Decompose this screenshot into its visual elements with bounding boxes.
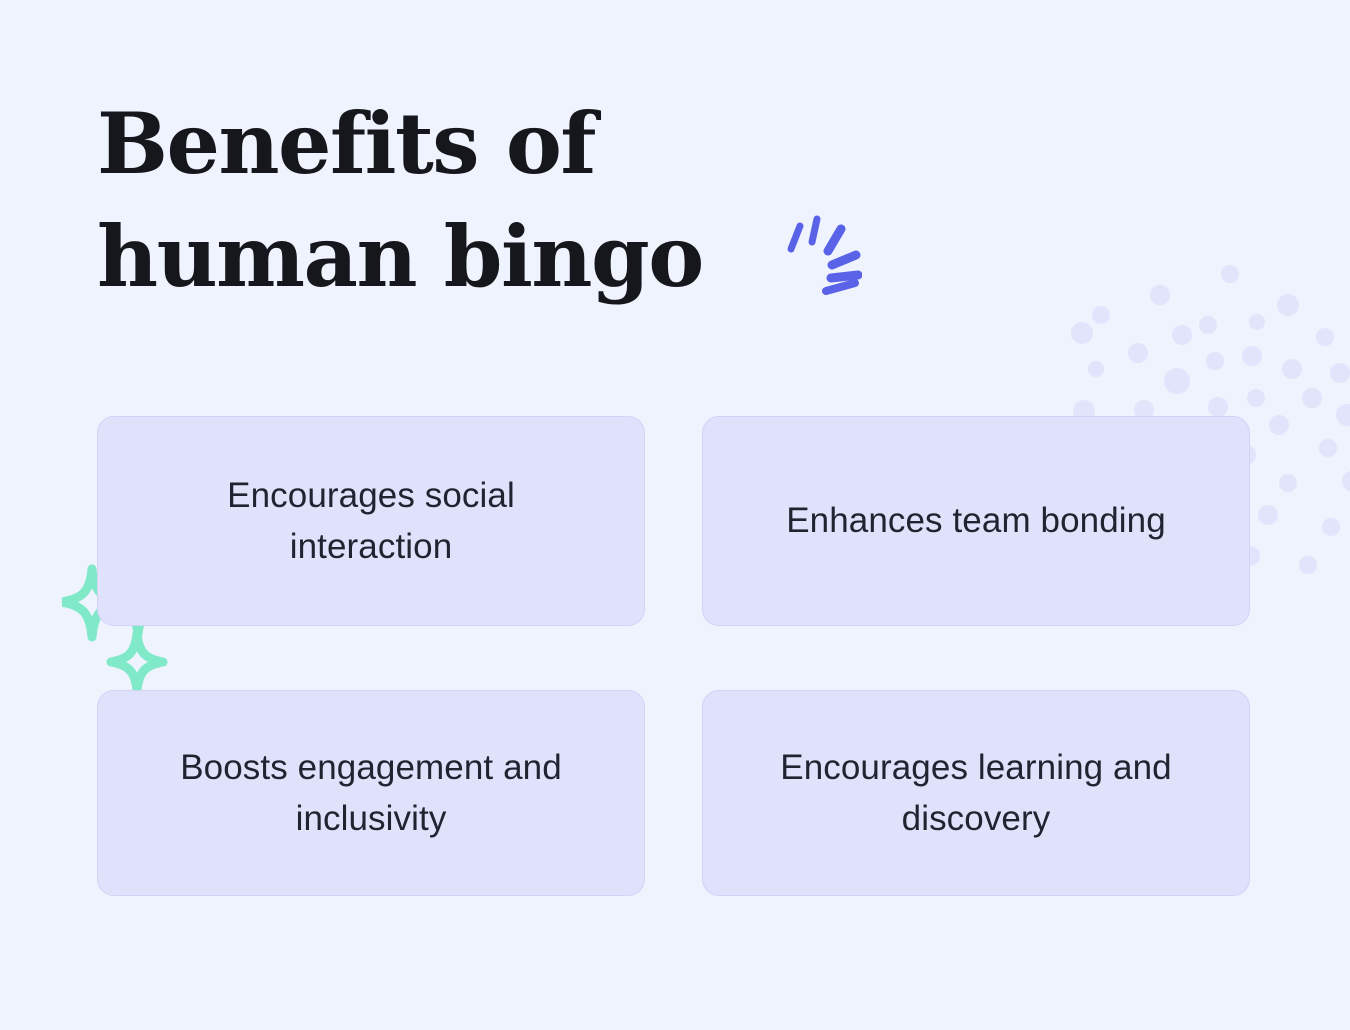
benefits-slide: Benefits of human bingo <box>0 0 1350 1030</box>
decorative-dot <box>1128 343 1148 363</box>
decorative-dot <box>1282 359 1302 379</box>
decorative-dot <box>1150 285 1170 305</box>
benefit-card-label: Enhances team bonding <box>786 495 1166 546</box>
decorative-dot <box>1199 316 1217 334</box>
title-block: Benefits of human bingo <box>97 88 857 313</box>
decorative-dot <box>1302 388 1322 408</box>
decorative-dot <box>1258 505 1278 525</box>
decorative-dot <box>1164 368 1190 394</box>
decorative-dot <box>1172 325 1192 345</box>
decorative-dot <box>1299 556 1317 574</box>
decorative-dot <box>1071 322 1093 344</box>
benefit-card-1[interactable]: Encourages social interaction <box>97 416 645 626</box>
decorative-dot <box>1279 474 1297 492</box>
decorative-dot <box>1206 352 1224 370</box>
benefit-card-4[interactable]: Encourages learning and discovery <box>702 690 1250 896</box>
decorative-dot <box>1319 439 1337 457</box>
decorative-dot <box>1208 397 1228 417</box>
decorative-dot <box>1322 518 1340 536</box>
decorative-dot <box>1092 306 1110 324</box>
decorative-dot <box>1242 346 1262 366</box>
benefit-card-grid: Encourages social interaction Enhances t… <box>97 416 1250 896</box>
decorative-dot <box>1247 389 1265 407</box>
benefit-card-label: Encourages learning and discovery <box>780 742 1171 845</box>
benefit-card-3[interactable]: Boosts engagement and inclusivity <box>97 690 645 896</box>
decorative-dot <box>1336 404 1350 426</box>
decorative-dot <box>1330 363 1350 383</box>
decorative-dot <box>1088 361 1104 377</box>
decorative-dot <box>1342 471 1350 491</box>
benefit-card-label: Boosts engagement and inclusivity <box>180 742 562 845</box>
decorative-dot <box>1269 415 1289 435</box>
decorative-dot <box>1221 265 1239 283</box>
benefit-card-label: Encourages social interaction <box>227 470 515 573</box>
benefit-card-2[interactable]: Enhances team bonding <box>702 416 1250 626</box>
decorative-dot <box>1249 314 1265 330</box>
decorative-dot <box>1277 294 1299 316</box>
decorative-dot <box>1316 328 1334 346</box>
page-title: Benefits of human bingo <box>97 88 857 313</box>
